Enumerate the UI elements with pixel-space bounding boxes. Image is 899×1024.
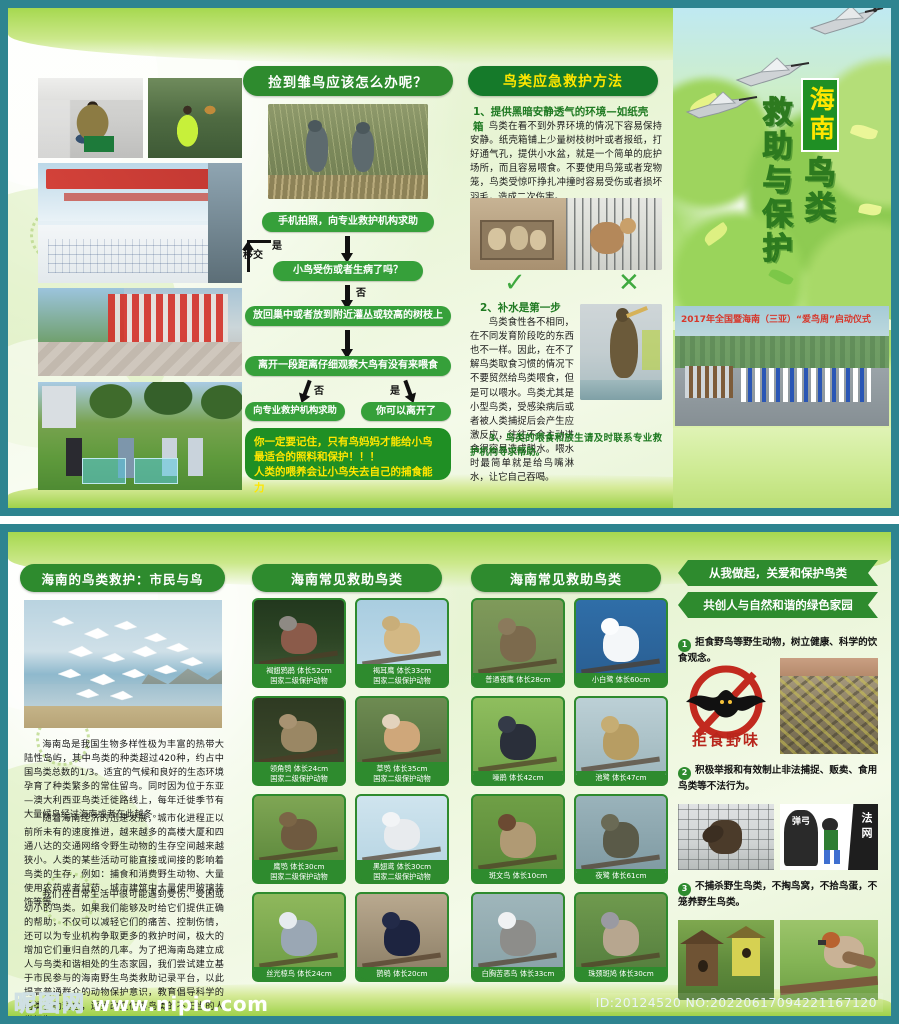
bird-caption: 草鸮 体长35cm国家二级保护动物 <box>357 762 447 784</box>
bird-photo <box>576 894 666 971</box>
bird-card[interactable]: 噪鹃 体长42cm <box>471 696 565 786</box>
bird-caption: 鹊鸲 体长20cm <box>357 967 447 980</box>
bird-caption: 珠颈斑鸠 体长30cm <box>576 967 666 980</box>
bird-caption: 斑文鸟 体长10cm <box>473 869 563 882</box>
bird-protection-level: 国家二级保护动物 <box>357 872 447 882</box>
bird-name-size: 普通夜鹰 体长28cm <box>473 675 563 685</box>
bird-name-size: 草鸮 体长35cm <box>357 764 447 774</box>
bird-photo <box>357 796 447 864</box>
action-banner-2: 共创人与自然和谐的绿色家园 <box>678 592 878 618</box>
photo-box-vs-cage <box>470 198 662 270</box>
photo-bird-in-net <box>678 804 774 870</box>
birds-right-heading: 海南常见救助鸟类 <box>471 564 661 592</box>
bird-name-size: 夜鹭 体长61cm <box>576 871 666 881</box>
brochure-bottom-sheet: 海南的鸟类救护：市民与鸟 <box>0 524 899 1024</box>
bird-name-size: 褐翅鸦鹃 体长52cm <box>254 666 344 676</box>
photo-group-backdrop <box>38 288 242 376</box>
cover-title-box: 海南 <box>801 78 839 152</box>
bird-caption: 夜鹭 体长61cm <box>576 869 666 882</box>
photo-chicks-nest <box>268 104 428 199</box>
bird-photo <box>576 796 666 873</box>
bird-photo <box>576 698 666 775</box>
crane-icon <box>805 8 885 52</box>
bird-name-size: 白胸苦恶鸟 体长33cm <box>473 969 563 979</box>
cartoon-caption: 法网 <box>858 812 874 842</box>
photo-signature-wall <box>38 163 242 283</box>
bird-name-size: 斑文鸟 体长10cm <box>473 871 563 881</box>
flock-birds <box>24 600 222 728</box>
footer-watermark: 昵图网 www.nipic.com <box>14 986 268 1018</box>
cover-title-left: 救助与保护 <box>757 96 791 266</box>
bird-name-size: 黑翅鸢 体长30cm <box>357 862 447 872</box>
article-heading: 海南的鸟类救护：市民与鸟 <box>20 564 225 592</box>
bird-protection-level: 国家二级保护动物 <box>254 676 344 686</box>
cover-title-right: 鸟类 <box>799 156 834 226</box>
flow-step-4: 离开一段距离仔细观察大鸟有没有来喂食 <box>245 356 451 376</box>
photo-release-bird <box>148 78 242 158</box>
bird-photo <box>254 698 344 766</box>
article-paragraph-1: 海南岛是我国生物多样性极为丰富的热带大陆性岛屿，其中鸟类的种类超过420种，约占… <box>24 738 224 822</box>
flow-label-yes: 是 <box>272 237 282 252</box>
bird-name-size: 领角鸮 体长24cm <box>254 764 344 774</box>
bird-card[interactable]: 丝光椋鸟 体长24cm <box>252 892 346 982</box>
bird-card[interactable]: 池鹭 体长47cm <box>574 696 668 786</box>
check-icon: ✓ <box>504 270 526 296</box>
bird-card[interactable]: 夜鹭 体长61cm <box>574 794 668 884</box>
flow-label-transfer: 移交 <box>243 246 263 261</box>
photo-seized-birds <box>780 658 878 754</box>
flow-step-6: 你可以离开了 <box>361 402 451 421</box>
bird-caption: 领角鸮 体长24cm国家二级保护动物 <box>254 762 344 784</box>
bird-card[interactable]: 鹰鸮 体长30cm国家二级保护动物 <box>252 794 346 884</box>
photo-bittern-water <box>580 304 662 400</box>
bird-protection-level: 国家二级保护动物 <box>254 872 344 882</box>
firstaid-item3-text: 3、鸟类的喂食和放生请及时联系专业救护机构寻求帮助。 <box>470 432 662 460</box>
bird-protection-level: 国家二级保护动物 <box>357 676 447 686</box>
bird-card[interactable]: 鹊鸲 体长20cm <box>355 892 449 982</box>
brochure-top-sheet: 捡到雏鸟应该怎么办呢？ 手机拍照，向专业救护机构求助 小鸟受伤或者生病了吗？ 移… <box>0 0 899 516</box>
bird-card[interactable]: 白胸苦恶鸟 体长33cm <box>471 892 565 982</box>
bird-card[interactable]: 珠颈斑鸠 体长30cm <box>574 892 668 982</box>
bird-photo <box>357 600 447 668</box>
badge-1: 1 <box>678 639 691 652</box>
flow-arrow-down <box>345 330 350 350</box>
bird-name-size: 褐耳鹰 体长33cm <box>357 666 447 676</box>
bird-card[interactable]: 领角鸮 体长24cm国家二级保护动物 <box>252 696 346 786</box>
bird-caption: 鹰鸮 体长30cm国家二级保护动物 <box>254 860 344 882</box>
birds-left-heading: 海南常见救助鸟类 <box>252 564 442 592</box>
action-item-3: 3不捕杀野生鸟类，不掏鸟窝，不拾鸟蛋，不笼养野生鸟类。 <box>678 880 878 910</box>
image-id-text: ID:20124520 NO:20220617094221167120 <box>590 993 883 1012</box>
bird-name-size: 鹊鸲 体长20cm <box>357 969 447 979</box>
bird-caption: 噪鹃 体长42cm <box>473 771 563 784</box>
bird-photo <box>473 600 563 677</box>
flow-arrow-no <box>302 380 311 396</box>
flow-arrow-yes <box>403 380 412 396</box>
firstaid-heading: 鸟类应急救护方法 <box>503 71 623 91</box>
photo-nest-boxes <box>678 920 774 1000</box>
flow-step-3: 放回巢中或者放到附近灌丛或较高的树枝上 <box>245 306 451 326</box>
bird-card[interactable]: 草鸮 体长35cm国家二级保护动物 <box>355 696 449 786</box>
bird-card[interactable]: 褐耳鹰 体长33cm国家二级保护动物 <box>355 598 449 688</box>
flow-label-yes2: 是 <box>390 382 400 397</box>
bird-name-size: 池鹭 体长47cm <box>576 773 666 783</box>
bird-caption: 普通夜鹰 体长28cm <box>473 673 563 686</box>
bird-card[interactable]: 普通夜鹰 体长28cm <box>471 598 565 688</box>
bird-caption: 黑翅鸢 体长30cm国家二级保护动物 <box>357 860 447 882</box>
flow-label-no2: 否 <box>314 382 324 397</box>
bird-name-size: 丝光椋鸟 体长24cm <box>254 969 344 979</box>
bird-photo <box>576 600 666 677</box>
poster-refuse-wild-meat: 拒食野味 <box>678 658 774 754</box>
action-banner-1: 从我做起，关爱和保护鸟类 <box>678 560 878 586</box>
bird-photo <box>254 796 344 864</box>
watermark-en: www.nipic.com <box>92 992 268 1016</box>
bottom-sheet-inner: 海南的鸟类救护：市民与鸟 <box>8 532 891 1016</box>
bird-name-size: 噪鹃 体长42cm <box>473 773 563 783</box>
bird-card[interactable]: 褐翅鸦鹃 体长52cm国家二级保护动物 <box>252 598 346 688</box>
bird-name-size: 小白鹭 体长60cm <box>576 675 666 685</box>
bird-photo <box>254 600 344 668</box>
bird-caption: 池鹭 体长47cm <box>576 771 666 784</box>
action-item-3-text: 不捕杀野生鸟类，不掏鸟窝，不拾鸟蛋，不笼养野生鸟类。 <box>678 881 877 908</box>
action-item-2-text: 积极举报和有效制止非法捕捉、贩卖、食用鸟类等不法行为。 <box>678 765 877 792</box>
flow-heading: 捡到雏鸟应该怎么办呢？ <box>243 66 453 96</box>
bird-photo <box>473 698 563 775</box>
action-item-2: 2积极举报和有效制止非法捕捉、贩卖、食用鸟类等不法行为。 <box>678 764 878 794</box>
photo-rescue-indoor <box>38 78 143 158</box>
flow-arrow-down <box>345 285 350 301</box>
bird-caption: 白胸苦恶鸟 体长33cm <box>473 967 563 980</box>
decor-bottom-grass <box>673 428 891 508</box>
illustration-law-net: 弹弓 法网 <box>780 804 878 870</box>
flow-label-no: 否 <box>356 284 366 299</box>
photo-flock-coast <box>24 600 222 728</box>
flow-step-2: 小鸟受伤或者生病了吗？ <box>273 261 423 281</box>
photo-ceremony-stage: 2017年全国暨海南（三亚）“爱鸟周”启动仪式 <box>675 306 889 426</box>
flow-tip: 你一定要记住，只有鸟妈妈才能给小鸟 最适合的照料和保护！！！ 人类的喂养会让小鸟… <box>245 428 451 480</box>
flow-step-5: 向专业救护机构求助 <box>245 402 345 421</box>
bird-caption: 丝光椋鸟 体长24cm <box>254 967 344 980</box>
badge-3: 3 <box>678 883 691 896</box>
flow-step-1: 手机拍照，向专业救护机构求助 <box>262 212 434 232</box>
bird-protection-level: 国家二级保护动物 <box>254 774 344 784</box>
bird-name-size: 珠颈斑鸠 体长30cm <box>576 969 666 979</box>
bird-protection-level: 国家二级保护动物 <box>357 774 447 784</box>
photo-sparrow-branch <box>780 920 878 1000</box>
bird-card[interactable]: 黑翅鸢 体长30cm国家二级保护动物 <box>355 794 449 884</box>
bird-caption: 褐翅鸦鹃 体长52cm国家二级保护动物 <box>254 664 344 686</box>
bird-photo <box>357 698 447 766</box>
bird-photo <box>473 796 563 873</box>
bird-name-size: 鹰鸮 体长30cm <box>254 862 344 872</box>
cover-banner-text: 2017年全国暨海南（三亚）“爱鸟周”启动仪式 <box>681 312 883 332</box>
bird-photo <box>254 894 344 971</box>
cover-panel: 海南 救助与保护 鸟类 2017年全国暨海南（三亚）“爱鸟周”启动仪式 <box>673 8 891 508</box>
bird-card[interactable]: 小白鹭 体长60cm <box>574 598 668 688</box>
bird-card[interactable]: 斑文鸟 体长10cm <box>471 794 565 884</box>
bird-photo <box>357 894 447 971</box>
bird-caption: 小白鹭 体长60cm <box>576 673 666 686</box>
bird-photo <box>473 894 563 971</box>
crane-icon <box>683 90 759 134</box>
watermark-cn: 昵图网 <box>14 986 86 1018</box>
brochure-page: 捡到雏鸟应该怎么办呢？ 手机拍照，向专业救护机构求助 小鸟受伤或者生病了吗？ 移… <box>0 0 899 1024</box>
photo-park-volunteers <box>38 382 242 490</box>
cross-icon: ✕ <box>618 270 640 296</box>
badge-2: 2 <box>678 767 691 780</box>
bird-caption: 褐耳鹰 体长33cm国家二级保护动物 <box>357 664 447 686</box>
flow-arrow-down <box>345 236 350 254</box>
poster-caption: 拒食野味 <box>680 729 772 750</box>
firstaid-item1-text: 鸟类在看不到外界环境的情况下容易保持安静。纸壳箱铺上少量树枝树叶或者报纸，打好通… <box>470 120 662 205</box>
